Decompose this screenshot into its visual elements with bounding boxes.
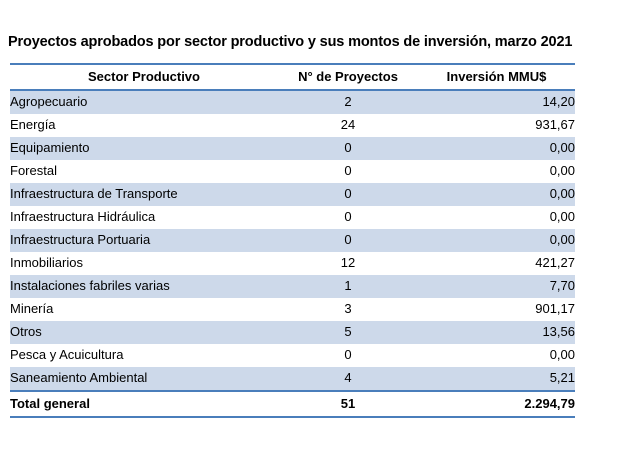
cell-amount: 0,00	[418, 206, 575, 229]
cell-count: 0	[278, 206, 418, 229]
cell-count: 24	[278, 114, 418, 137]
cell-amount: 421,27	[418, 252, 575, 275]
table-row: Saneamiento Ambiental45,21	[10, 367, 575, 391]
cell-amount: 0,00	[418, 137, 575, 160]
table-footer: Total general 51 2.294,79	[10, 391, 575, 417]
cell-sector: Energía	[10, 114, 278, 137]
table-row: Equipamiento00,00	[10, 137, 575, 160]
column-header-count: N° de Proyectos	[278, 64, 418, 90]
column-header-amount: Inversión MMU$	[418, 64, 575, 90]
table-header: Sector Productivo N° de Proyectos Invers…	[10, 64, 575, 90]
cell-count: 0	[278, 137, 418, 160]
table-row: Agropecuario214,20	[10, 90, 575, 114]
table-row: Instalaciones fabriles varias17,70	[10, 275, 575, 298]
cell-amount: 901,17	[418, 298, 575, 321]
cell-sector: Minería	[10, 298, 278, 321]
table-row: Pesca y Acuicultura00,00	[10, 344, 575, 367]
cell-sector: Instalaciones fabriles varias	[10, 275, 278, 298]
cell-sector: Agropecuario	[10, 90, 278, 114]
cell-amount: 931,67	[418, 114, 575, 137]
cell-sector: Otros	[10, 321, 278, 344]
cell-amount: 5,21	[418, 367, 575, 391]
column-header-sector: Sector Productivo	[10, 64, 278, 90]
cell-count: 5	[278, 321, 418, 344]
cell-amount: 14,20	[418, 90, 575, 114]
cell-amount: 0,00	[418, 183, 575, 206]
cell-sector: Forestal	[10, 160, 278, 183]
table-row: Infraestructura Portuaria00,00	[10, 229, 575, 252]
table-row: Forestal00,00	[10, 160, 575, 183]
cell-amount: 0,00	[418, 344, 575, 367]
cell-count: 0	[278, 160, 418, 183]
table-row: Minería3901,17	[10, 298, 575, 321]
cell-sector: Infraestructura Portuaria	[10, 229, 278, 252]
table-row: Inmobiliarios12421,27	[10, 252, 575, 275]
cell-sector: Equipamiento	[10, 137, 278, 160]
cell-count: 2	[278, 90, 418, 114]
cell-sector: Pesca y Acuicultura	[10, 344, 278, 367]
total-row: Total general 51 2.294,79	[10, 391, 575, 417]
investment-table-container: Sector Productivo N° de Proyectos Invers…	[10, 63, 575, 418]
cell-amount: 0,00	[418, 229, 575, 252]
cell-count: 4	[278, 367, 418, 391]
cell-sector: Inmobiliarios	[10, 252, 278, 275]
cell-count: 0	[278, 183, 418, 206]
table-row: Infraestructura Hidráulica00,00	[10, 206, 575, 229]
table-row: Infraestructura de Transporte00,00	[10, 183, 575, 206]
cell-count: 0	[278, 229, 418, 252]
cell-sector: Saneamiento Ambiental	[10, 367, 278, 391]
table-row: Energía24931,67	[10, 114, 575, 137]
cell-count: 3	[278, 298, 418, 321]
table-header-row: Sector Productivo N° de Proyectos Invers…	[10, 64, 575, 90]
cell-count: 1	[278, 275, 418, 298]
total-amount: 2.294,79	[418, 391, 575, 417]
total-label: Total general	[10, 391, 278, 417]
cell-count: 12	[278, 252, 418, 275]
table-row: Otros513,56	[10, 321, 575, 344]
total-count: 51	[278, 391, 418, 417]
table-body: Agropecuario214,20Energía24931,67Equipam…	[10, 90, 575, 391]
cell-sector: Infraestructura de Transporte	[10, 183, 278, 206]
cell-sector: Infraestructura Hidráulica	[10, 206, 278, 229]
page-title: Proyectos aprobados por sector productiv…	[8, 34, 622, 50]
cell-amount: 0,00	[418, 160, 575, 183]
cell-amount: 7,70	[418, 275, 575, 298]
table-page: Proyectos aprobados por sector productiv…	[0, 0, 629, 449]
cell-count: 0	[278, 344, 418, 367]
cell-amount: 13,56	[418, 321, 575, 344]
investment-table: Sector Productivo N° de Proyectos Invers…	[10, 63, 575, 418]
